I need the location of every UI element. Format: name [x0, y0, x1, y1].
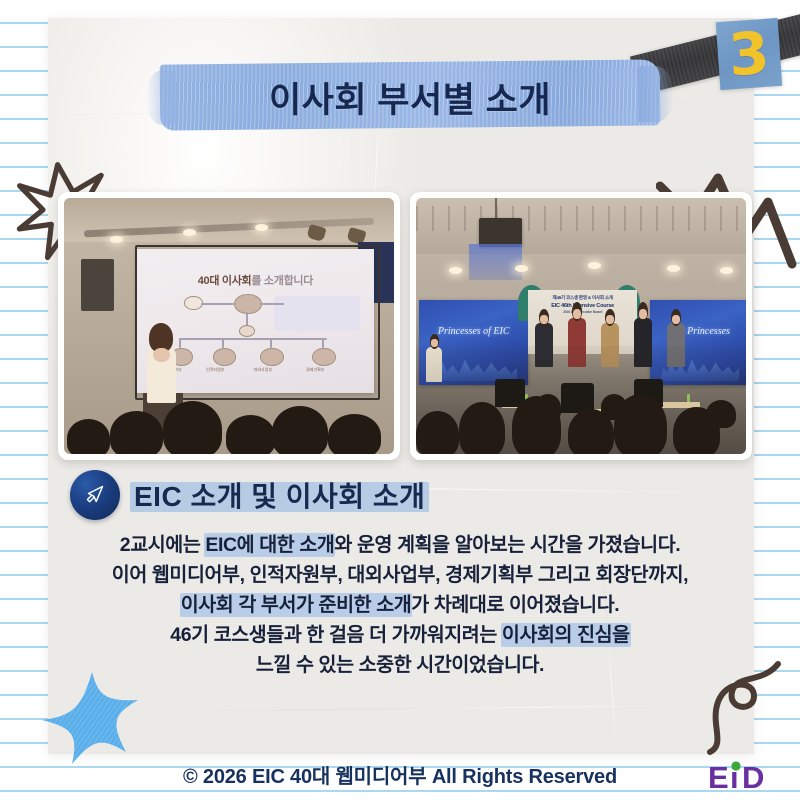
- photo-right[interactable]: Princesses of EIC The Princesses 제46기 코스…: [410, 192, 752, 460]
- highlighted-phrase: 이사회 각 부서가 준비한 소개: [181, 594, 412, 616]
- body-text-run: 느낄 수 있는 소중한 시간이었습니다.: [256, 654, 544, 676]
- svg-text:D: D: [742, 760, 764, 794]
- page-number-badge: 3: [716, 18, 783, 90]
- body-paragraph: 2교시에는 EIC에 대한 소개와 운영 계획을 알아보는 시간을 가졌습니다.…: [56, 530, 744, 680]
- card-page: 3 이사회 부서별 소개: [0, 0, 800, 800]
- stage-banner-line1: 제46기 코스생 환영 & 이사회 소개: [533, 295, 633, 302]
- body-text-run: 46기 코스생들과 한 걸음 더 가까워지려는: [170, 624, 502, 646]
- stage-banner-line2: EIC 46th Intensive Course: [533, 302, 633, 310]
- footer-copyright: © 2026 EIC 40대 웹미디어부 All Rights Reserved: [0, 760, 800, 789]
- page-title: 이사회 부서별 소개: [160, 72, 660, 122]
- highlighted-phrase: 이사회의 진심을: [502, 624, 630, 646]
- svg-text:E: E: [708, 760, 728, 794]
- body-text-run: 가 차례대로 이어졌습니다.: [411, 594, 619, 616]
- body-text-run: 이어 웹미디어부, 인적자원부, 대외사업부, 경제기획부 그리고 회장단까지,: [112, 564, 688, 586]
- highlighted-phrase: EIC에 대한 소개: [205, 534, 334, 556]
- photo-left[interactable]: 40대 이사회를 소개합니다 웹미디어부 인적자원부: [58, 192, 400, 460]
- body-text-run: 와 운영 계획을 알아보는 시간을 가졌습니다.: [334, 534, 680, 556]
- screen-left-text: Princesses of EIC: [424, 326, 524, 337]
- eic-logo: E i D: [706, 758, 788, 794]
- body-line-2: 이사회 각 부서가 준비한 소개가 차례대로 이어졌습니다.: [56, 590, 744, 620]
- section-heading: EIC 소개 및 이사회 소개: [70, 470, 425, 520]
- body-line-3: 46기 코스생들과 한 걸음 더 가까워지려는 이사회의 진심을: [56, 620, 744, 650]
- section-heading-text: EIC 소개 및 이사회 소개: [134, 475, 425, 515]
- body-text-run: 2교시에는: [120, 534, 206, 556]
- cursor-arrow-icon: [70, 470, 120, 520]
- body-line-0: 2교시에는 EIC에 대한 소개와 운영 계획을 알아보는 시간을 가졌습니다.: [56, 530, 744, 560]
- body-line-1: 이어 웹미디어부, 인적자원부, 대외사업부, 경제기획부 그리고 회장단까지,: [56, 560, 744, 590]
- page-number-value: 3: [727, 24, 771, 85]
- body-line-4: 느낄 수 있는 소중한 시간이었습니다.: [56, 650, 744, 680]
